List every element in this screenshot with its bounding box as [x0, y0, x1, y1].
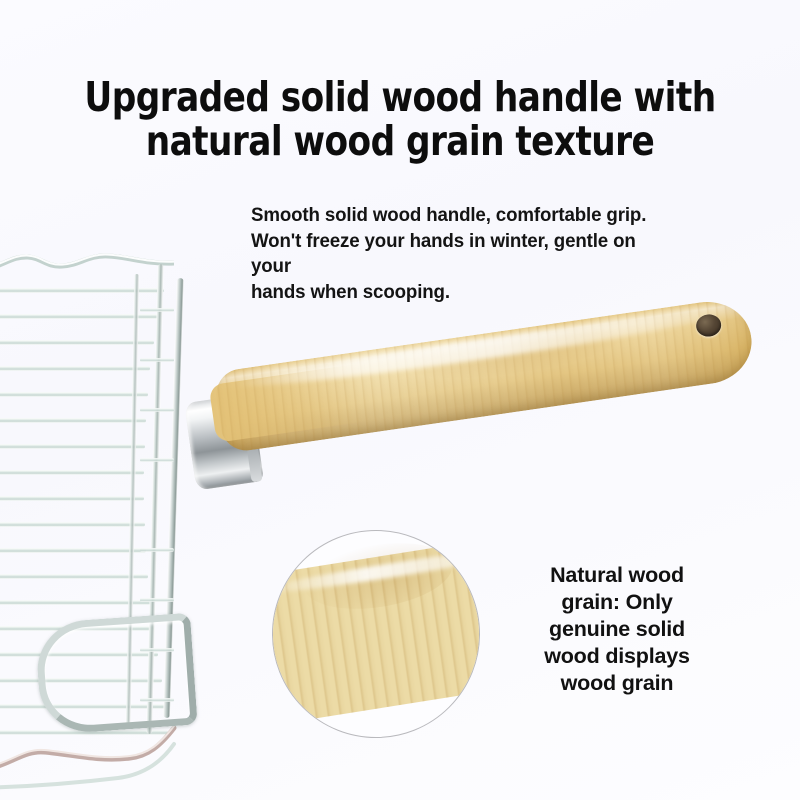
basket-rail-inner: [126, 274, 140, 726]
magnifier-caption: Natural wood grain: Only genuine solid w…: [511, 562, 723, 697]
basket-handle-loop: [34, 613, 197, 736]
product-feature-banner: Upgraded solid wood handle with natural …: [0, 0, 800, 800]
basket-rim-wire: [0, 252, 174, 274]
basket-bottom-edge: [0, 688, 193, 793]
wire-basket: [0, 248, 230, 793]
basket-rail-outer: [146, 264, 163, 734]
handle-taper: [209, 364, 366, 443]
basket-rail-front: [163, 278, 184, 718]
ferrule-edge: [240, 402, 262, 483]
hang-hole: [695, 313, 723, 338]
wood-handle: [196, 330, 776, 510]
feature-description: Smooth solid wood handle, comfortable gr…: [251, 203, 654, 305]
handle-highlight: [235, 306, 719, 394]
wood-grain-texture: [213, 296, 757, 454]
handle-body: [213, 296, 757, 454]
wood-grain-magnifier-circle: [272, 530, 480, 738]
metal-ferrule: [184, 394, 264, 491]
page-title: Upgraded solid wood handle with natural …: [75, 76, 726, 164]
